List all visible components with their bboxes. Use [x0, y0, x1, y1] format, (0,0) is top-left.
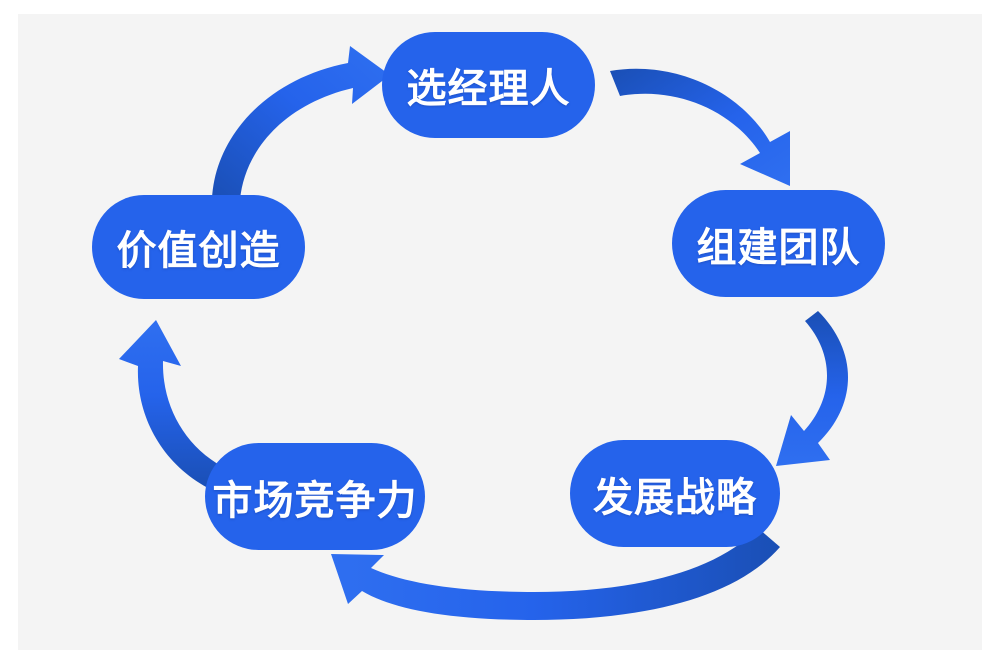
arrow-market-competitiveness-to-value-creation	[119, 320, 223, 488]
node-label: 市场竞争力	[213, 468, 418, 526]
image-frame: 选经理人 组建团队 发展战略 市场竞争力 价值创造	[0, 0, 1000, 667]
node-development-strategy[interactable]: 发展战略	[570, 440, 780, 547]
node-label: 组建团队	[697, 215, 861, 273]
arrow-build-team-to-development-strategy	[776, 311, 848, 466]
node-build-team[interactable]: 组建团队	[672, 190, 885, 297]
node-label: 价值创造	[117, 218, 281, 276]
node-value-creation[interactable]: 价值创造	[92, 195, 305, 299]
node-label: 选经理人	[407, 56, 571, 114]
arrow-value-creation-to-select-manager	[212, 46, 390, 200]
node-market-competitiveness[interactable]: 市场竞争力	[205, 443, 425, 550]
arrow-select-manager-to-build-team	[610, 69, 790, 186]
node-label: 发展战略	[593, 465, 757, 523]
node-select-manager[interactable]: 选经理人	[382, 32, 595, 138]
diagram-canvas: 选经理人 组建团队 发展战略 市场竞争力 价值创造	[18, 14, 982, 650]
